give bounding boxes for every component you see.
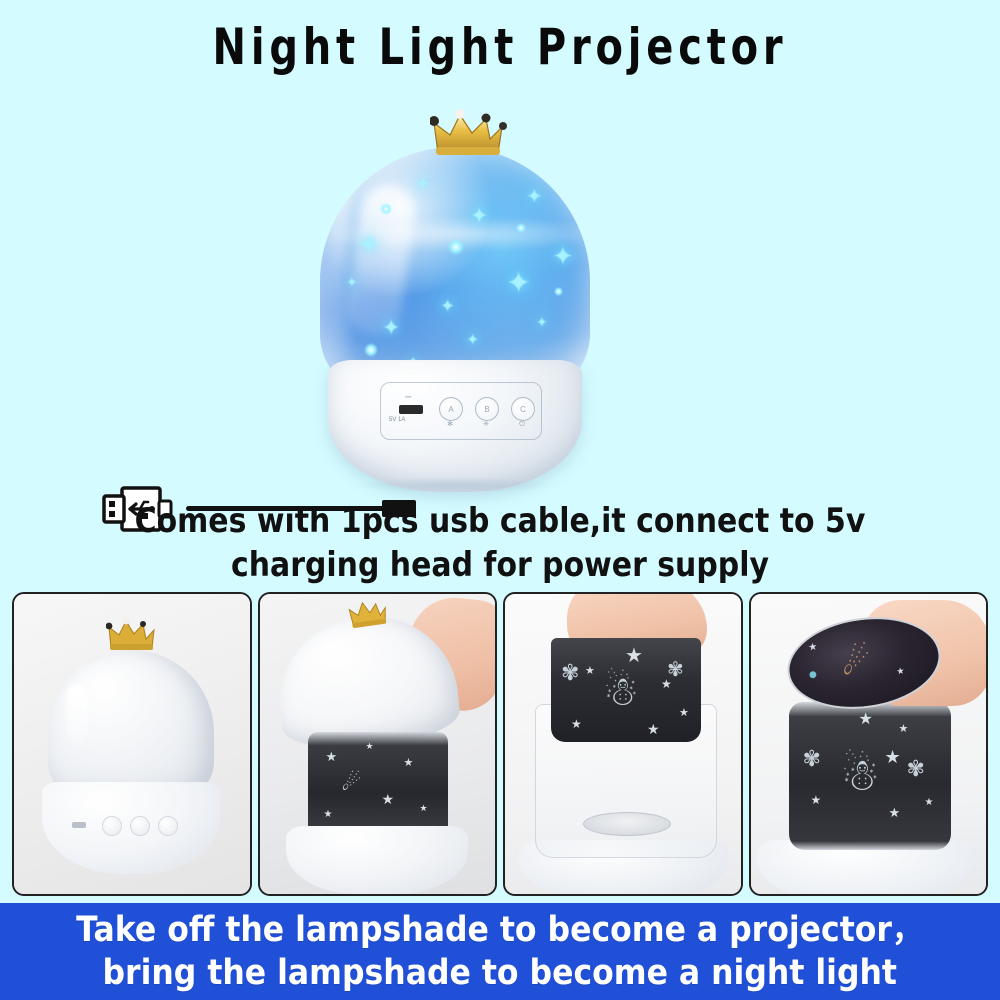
lampshade-highlight <box>66 684 88 744</box>
crown-icon <box>430 109 508 157</box>
micro-usb-port <box>72 822 86 828</box>
star-icon: ★ <box>859 712 873 728</box>
banner-line-2: bring the lampshade to become a night li… <box>76 952 923 995</box>
star-icon: ✦ <box>552 243 574 269</box>
banner-text: Take off the lampshade to become a proje… <box>76 909 923 994</box>
thumb-assembled-lamp[interactable] <box>12 592 252 896</box>
cartoon-figure-icon: ☃ <box>603 672 639 712</box>
star-dot-icon <box>516 223 526 233</box>
control-panel: ⎓ 5V 1A A ✻ B ✳ C ⏻ <box>380 382 542 440</box>
star-icon: ★ <box>925 798 934 808</box>
star-icon: ★ <box>679 708 689 719</box>
planet-icon: ● <box>807 667 819 684</box>
crown-icon <box>346 597 390 630</box>
device-button-c[interactable]: C <box>511 397 535 421</box>
device-button-b <box>130 816 150 836</box>
star-icon: ★ <box>326 750 338 763</box>
device-button-a <box>102 816 122 836</box>
product-device: ✦ ✦ ✦ ✦ ✦ ✦ ✦ ✦ ✦ ✦ ✦ ✦ ⎓ 5V 1A A <box>310 105 595 495</box>
cartoon-figure-icon: ✾ <box>561 662 579 684</box>
star-icon: ★ <box>895 666 904 676</box>
bottom-banner: Take off the lampshade to become a proje… <box>0 903 1000 1000</box>
star-dot-icon <box>380 203 392 215</box>
astronaut-icon: ☄ <box>838 643 873 681</box>
star-icon: ★ <box>899 724 909 735</box>
cartoon-figure-icon: ✾ <box>667 660 684 680</box>
crown-icon <box>106 618 158 652</box>
thumb-changing-film-disc[interactable]: ★ ★ ★ ☃ ✾ ✾ ★ ★ ★ ☄ ★ ★ ● <box>749 592 989 896</box>
thumbnail-strip: ★ ★ ★ ☄ ★ ★ ★ ★ ★ ★ ☃ ✾ ✾ ★ ★ ★ <box>12 592 988 892</box>
lamp-base <box>286 826 468 894</box>
star-icon: ★ <box>404 758 414 769</box>
hero-product-illustration: ✦ ✦ ✦ ✦ ✦ ✦ ✦ ✦ ✦ ✦ ✦ ✦ ⎓ 5V 1A A <box>0 95 1000 495</box>
star-icon: ★ <box>571 718 582 730</box>
star-dot-icon <box>364 343 378 357</box>
thumb-removing-film-sleeve[interactable]: ★ ★ ★ ☃ ✾ ✾ ★ ★ ★ <box>503 592 743 896</box>
star-icon: ✦ <box>346 275 358 289</box>
cartoon-figure-icon: ✾ <box>907 758 925 780</box>
star-icon: ★ <box>647 722 660 736</box>
hero-caption: Comes with 1pcs usb cable,it connect to … <box>60 500 940 587</box>
star-dot-icon <box>448 239 464 255</box>
star-dot-icon <box>554 287 563 296</box>
star-icon: ✦ <box>466 333 479 349</box>
device-button-b[interactable]: B <box>475 397 499 421</box>
device-button-a[interactable]: A <box>439 397 463 421</box>
star-icon: ★ <box>811 794 822 806</box>
star-icon: ✦ <box>382 317 400 339</box>
star-icon: ✦ <box>506 269 531 299</box>
led-board <box>583 812 671 836</box>
star-icon: ★ <box>625 646 643 666</box>
star-icon: ✦ <box>358 231 380 257</box>
star-icon: ★ <box>889 806 901 819</box>
cartoon-figure-icon: ✾ <box>803 748 821 770</box>
page-title: Night Light Projector <box>100 18 900 76</box>
star-icon: ✦ <box>470 205 488 227</box>
star-icon: ★ <box>382 792 395 806</box>
thumb-removing-lampshade[interactable]: ★ ★ ★ ☄ ★ ★ ★ <box>258 592 498 896</box>
star-icon: ★ <box>885 748 901 766</box>
star-icon: ✦ <box>526 187 543 207</box>
hero-caption-line-2: charging head for power supply <box>60 544 940 588</box>
micro-usb-port[interactable] <box>399 405 423 414</box>
device-button-a-symbol: ✻ <box>439 421 461 428</box>
device-button-c <box>158 816 178 836</box>
star-icon: ★ <box>807 642 817 653</box>
star-icon: ✦ <box>416 177 429 193</box>
usb-port-icon: ⎓ <box>405 393 411 401</box>
power-button-symbol: ⏻ <box>511 421 533 428</box>
projection-film-sleeve: ★ ★ ★ ☃ ✾ ✾ ★ ★ ★ <box>551 638 701 742</box>
device-button-b-symbol: ✳ <box>475 421 497 428</box>
star-icon: ✦ <box>440 297 455 315</box>
cartoon-figure-icon: ☃ <box>841 754 880 798</box>
hero-caption-line-1: Comes with 1pcs usb cable,it connect to … <box>60 500 940 544</box>
star-icon: ★ <box>585 666 595 677</box>
star-icon: ✦ <box>536 315 548 329</box>
star-icon: ★ <box>324 810 333 820</box>
star-icon: ★ <box>420 804 428 813</box>
cartoon-figure-icon: ☄ <box>342 772 362 794</box>
power-rating-label: 5V 1A <box>389 417 405 423</box>
device-base: ⎓ 5V 1A A ✻ B ✳ C ⏻ <box>328 360 582 492</box>
banner-line-1: Take off the lampshade to become a proje… <box>76 909 923 952</box>
star-icon: ★ <box>366 742 374 751</box>
dome-edge-highlight <box>328 167 350 367</box>
projection-film-drum: ★ ★ ★ ☃ ✾ ✾ ★ ★ ★ <box>789 702 951 850</box>
